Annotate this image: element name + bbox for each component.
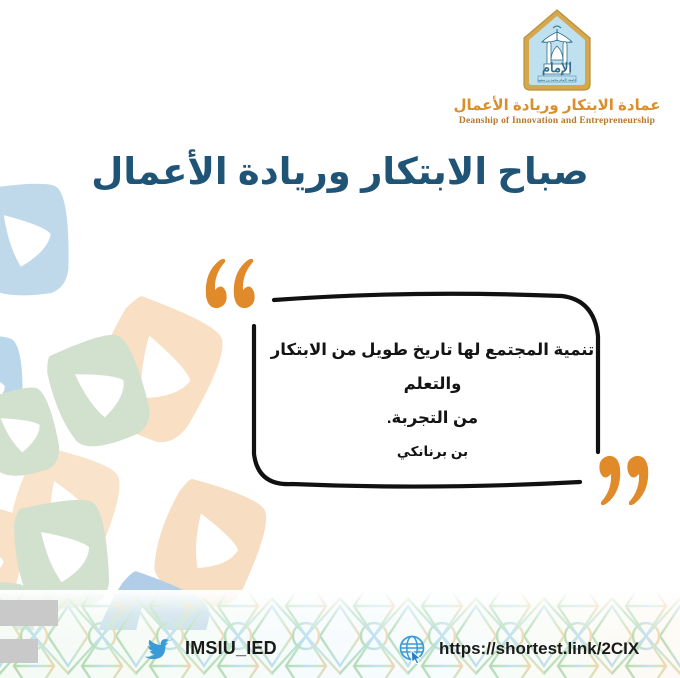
quote-block: تنمية المجتمع لها تاريخ طويل من الابتكار… (190, 252, 680, 542)
twitter-handle-item[interactable]: IMSIU_IED (144, 636, 277, 661)
quote-author: بن برنانكي (240, 444, 625, 460)
close-quote-icon (594, 452, 656, 512)
imsiu-university-emblem-icon: الإمام جامعة الإمام محمد بن سعود (520, 8, 594, 94)
brand-name-arabic: عمادة الابتكار وريادة الأعمال (442, 98, 672, 115)
svg-text:الإمام: الإمام (542, 60, 572, 76)
poster-card: الإمام جامعة الإمام محمد بن سعود عمادة ا… (0, 0, 680, 678)
gray-bar-lower (0, 639, 38, 663)
website-link-item[interactable]: https://shortest.link/2CIX (398, 634, 639, 664)
page-title: صباح الابتكار وريادة الأعمال (0, 150, 680, 193)
gray-bar-upper (0, 600, 58, 626)
quote-line-1: تنمية المجتمع لها تاريخ طويل من الابتكار… (240, 334, 625, 402)
twitter-handle-label: IMSIU_IED (185, 638, 277, 659)
quote-line-2: من التجربة. (240, 402, 625, 436)
website-url-label: https://shortest.link/2CIX (439, 639, 639, 659)
brand-header: الإمام جامعة الإمام محمد بن سعود عمادة ا… (442, 8, 672, 126)
brand-name-english: Deanship of Innovation and Entrepreneurs… (442, 116, 672, 126)
open-quote-icon (198, 256, 260, 316)
twitter-bird-icon[interactable] (144, 636, 174, 661)
quote-text: تنمية المجتمع لها تاريخ طويل من الابتكار… (240, 334, 625, 435)
globe-cursor-icon[interactable] (398, 634, 428, 664)
